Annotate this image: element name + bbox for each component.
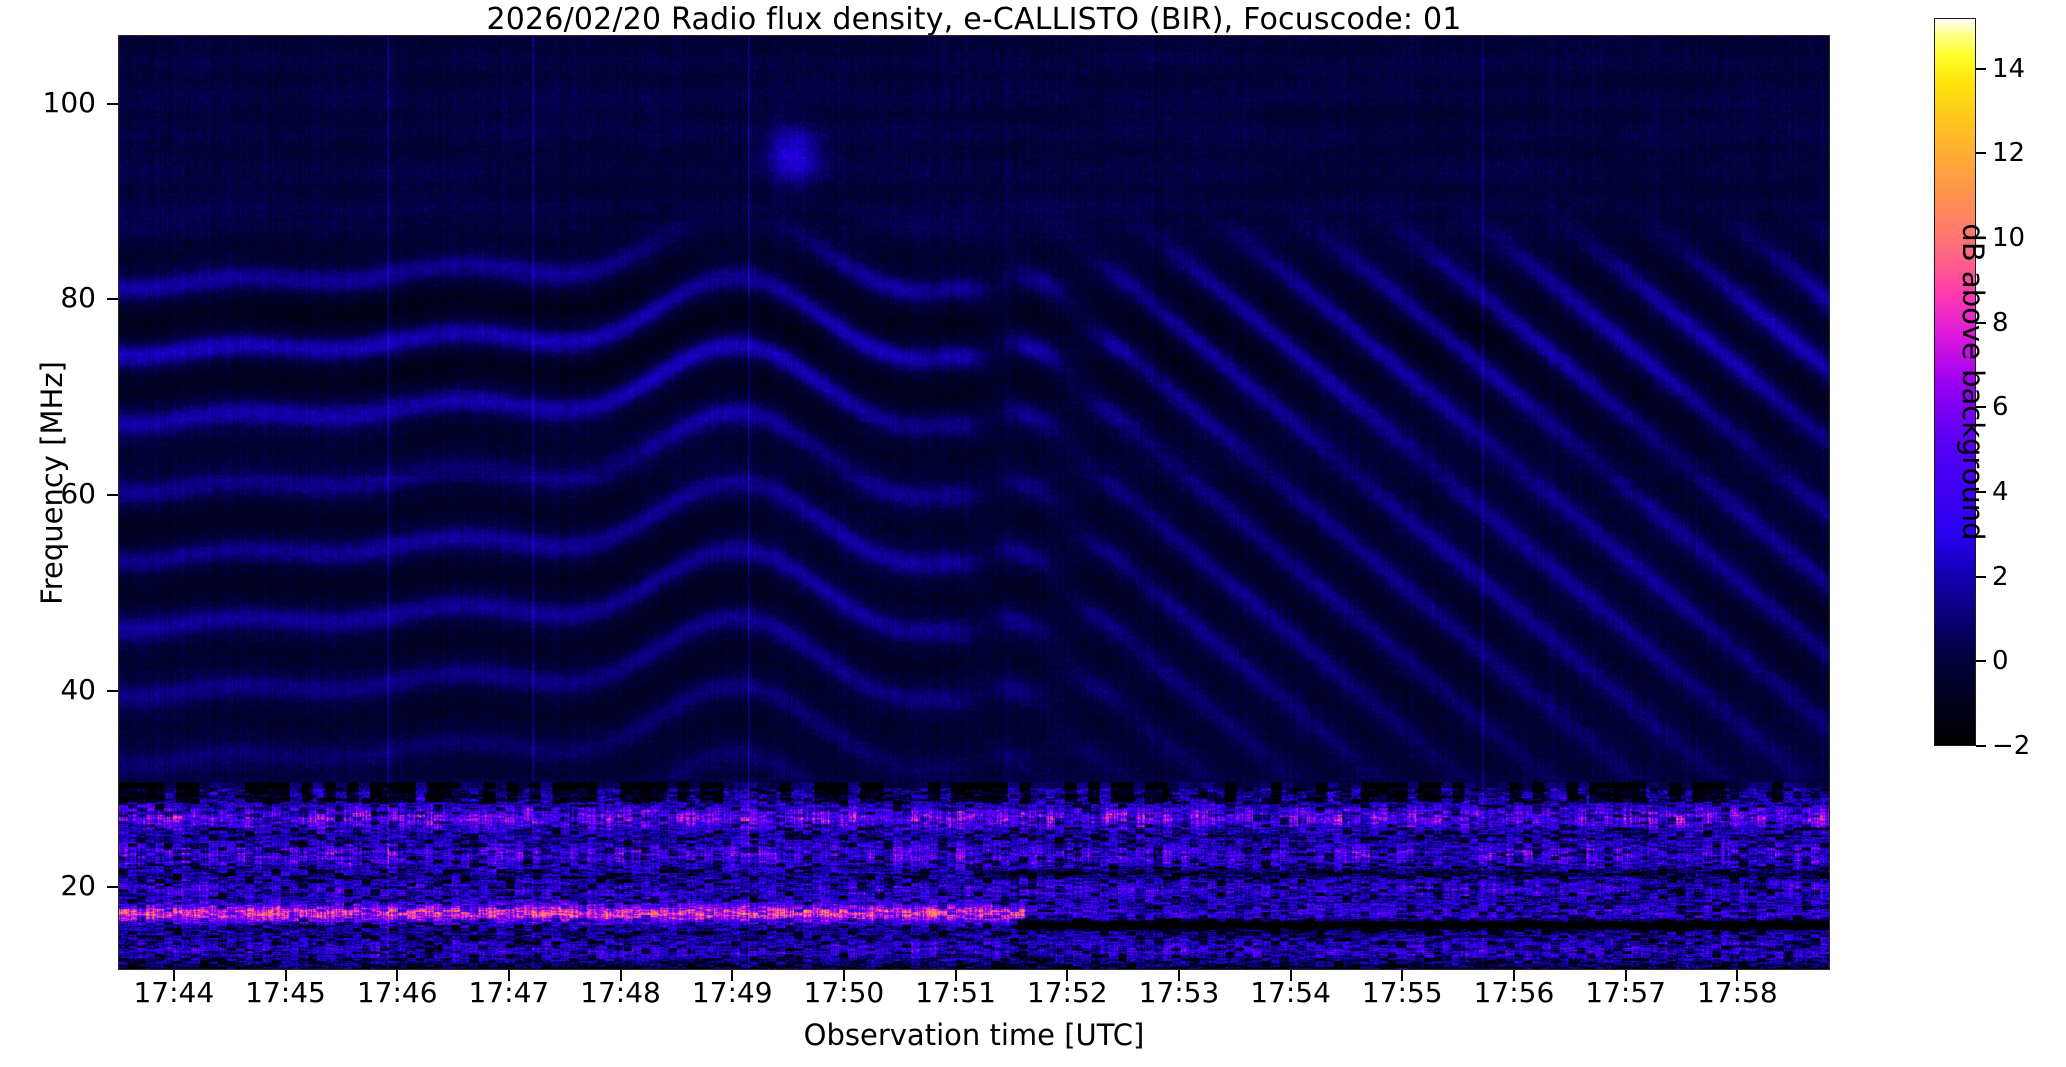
colorbar-label: dB above background	[1950, 18, 1990, 746]
x-tick-label: 17:46	[357, 976, 438, 1009]
colorbar-tick-label: 12	[1992, 138, 2025, 168]
colorbar-tick-label: 8	[1992, 308, 2009, 338]
y-tick-mark	[107, 494, 118, 496]
y-tick-mark	[107, 103, 118, 105]
spectrogram-image	[119, 36, 1829, 969]
colorbar-tick-label: 0	[1992, 646, 2009, 676]
x-tick-label: 17:53	[1139, 976, 1220, 1009]
y-tick-mark	[107, 298, 118, 300]
y-tick-mark	[107, 690, 118, 692]
colorbar-tick-label: 10	[1992, 223, 2025, 253]
x-tick-label: 17:55	[1362, 976, 1443, 1009]
y-tick-mark	[107, 886, 118, 888]
x-tick-label: 17:48	[580, 976, 661, 1009]
colorbar-tick-label: 4	[1992, 477, 2009, 507]
colorbar-tick-label: 14	[1992, 54, 2025, 84]
x-tick-label: 17:49	[692, 976, 773, 1009]
x-tick-label: 17:50	[804, 976, 885, 1009]
spectrogram-axes[interactable]	[118, 35, 1830, 970]
colorbar-tick-label: 6	[1992, 392, 2009, 422]
colorbar-tick-label: 2	[1992, 562, 2009, 592]
x-tick-label: 17:54	[1250, 976, 1331, 1009]
x-tick-label: 17:56	[1474, 976, 1555, 1009]
x-axis-label: Observation time [UTC]	[118, 1018, 1830, 1052]
colorbar-tick-label: −2	[1992, 731, 2030, 761]
figure-root: 2026/02/20 Radio flux density, e-CALLIST…	[0, 0, 2066, 1067]
x-tick-label: 17:57	[1585, 976, 1666, 1009]
page-title: 2026/02/20 Radio flux density, e-CALLIST…	[118, 2, 1830, 37]
x-tick-label: 17:52	[1027, 976, 1108, 1009]
x-tick-label: 17:47	[469, 976, 550, 1009]
x-tick-label: 17:58	[1697, 976, 1778, 1009]
x-tick-label: 17:44	[133, 976, 214, 1009]
y-axis-label: Frequency [MHz]	[35, 43, 69, 923]
x-tick-label: 17:45	[245, 976, 326, 1009]
x-tick-label: 17:51	[915, 976, 996, 1009]
